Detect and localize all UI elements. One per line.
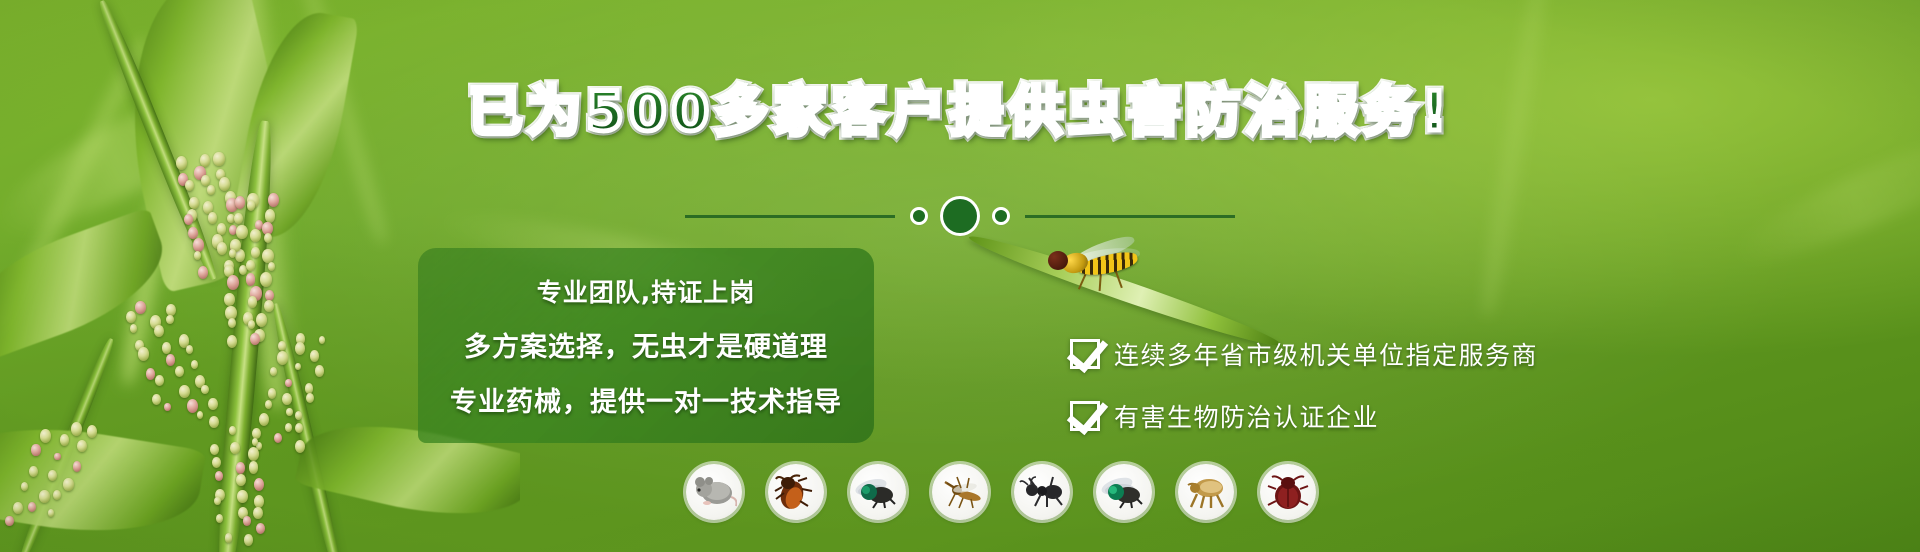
pest-icon-strip [686, 464, 1316, 520]
feature-line-3: 专业药械，提供一对一技术指导 [450, 380, 842, 419]
mouse-icon [686, 464, 742, 520]
mosquito-icon [932, 464, 988, 520]
list-item: 有害生物防治认证企业 [1070, 398, 1538, 434]
cockroach-icon [768, 464, 824, 520]
decoration-dot-small-left [913, 210, 925, 222]
credentials-list: 连续多年省市级机关单位指定服务商 有害生物防治认证企业 [1070, 336, 1538, 434]
feature-line-2: 多方案选择，无虫才是硬道理 [464, 325, 828, 364]
feature-line-1: 专业团队,持证上岗 [537, 273, 756, 309]
flea-icon [1178, 464, 1234, 520]
checkbox-checked-icon [1070, 339, 1100, 369]
hoverfly-image [1040, 245, 1160, 315]
decoration-rule-left [685, 215, 895, 218]
credential-text: 有害生物防治认证企业 [1114, 398, 1379, 434]
decoration-dot-large [943, 199, 977, 233]
title-decoration [0, 196, 1920, 236]
decoration-dot-small-right [995, 210, 1007, 222]
list-item: 连续多年省市级机关单位指定服务商 [1070, 336, 1538, 372]
decoration-rule-right [1025, 215, 1235, 218]
housefly-icon [850, 464, 906, 520]
credential-text: 连续多年省市级机关单位指定服务商 [1114, 336, 1538, 372]
blowfly-icon [1096, 464, 1152, 520]
page-title: 已为500多家客户提供虫害防治服务! [0, 82, 1920, 142]
bedbug-icon [1260, 464, 1316, 520]
feature-panel-text: 专业团队,持证上岗 多方案选择，无虫才是硬道理 专业药械，提供一对一技术指导 [418, 248, 874, 443]
ant-icon [1014, 464, 1070, 520]
checkbox-checked-icon [1070, 401, 1100, 431]
promo-banner: 已为500多家客户提供虫害防治服务! 已为500多家客户提供虫害防治服务! 专业… [0, 0, 1920, 552]
